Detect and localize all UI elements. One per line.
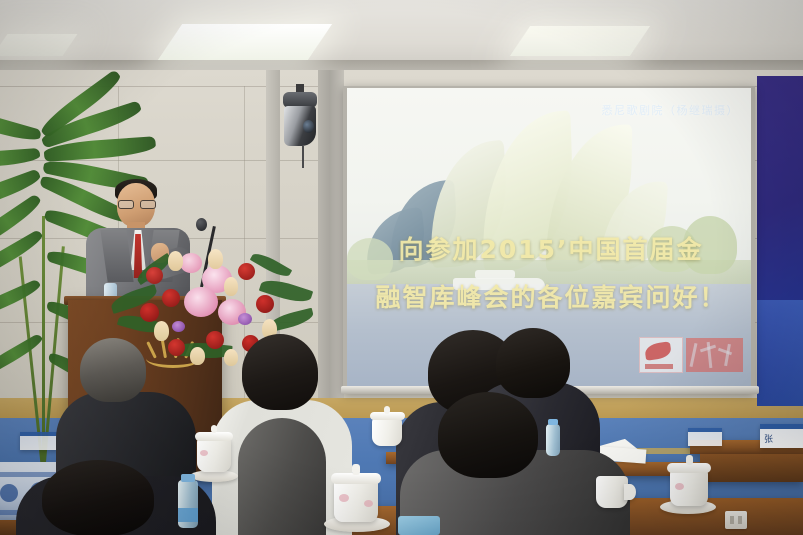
lily-bloom — [184, 287, 218, 317]
slide-title-line-1: 向参加2015’中国首届金 — [355, 230, 747, 266]
bottle-cap — [548, 419, 558, 425]
teacup-knob — [384, 406, 390, 414]
name-card — [20, 432, 58, 450]
teacup-lid — [195, 432, 233, 441]
teacup-knob — [352, 464, 360, 475]
rose-bloom — [162, 289, 180, 307]
rose-bloom — [206, 331, 224, 349]
audience-head — [496, 328, 570, 398]
backdrop-highlight — [757, 300, 803, 410]
rose-bloom — [238, 263, 255, 280]
rose-bloom — [146, 267, 163, 284]
slide-title-line-2: 融智库峰会的各位嘉宾问好！ — [355, 278, 747, 314]
ceiling-light-panel — [510, 26, 650, 56]
orchid-bloom — [172, 321, 185, 332]
bottle-cap — [181, 474, 195, 482]
audience-head — [242, 334, 318, 410]
audience-vest — [238, 418, 326, 535]
power-outlet[interactable] — [725, 511, 747, 529]
rose-bloom — [140, 303, 159, 322]
water-bottle — [546, 424, 560, 456]
smartphone[interactable] — [398, 516, 440, 535]
logo-subtext-bar — [645, 364, 673, 369]
teacup-decoration — [364, 500, 373, 507]
rose-bloom — [168, 339, 185, 356]
tulip-bud — [168, 251, 183, 271]
name-card — [688, 428, 722, 446]
lily-bloom — [180, 253, 202, 273]
microphone-icon — [196, 218, 207, 231]
teacup-knob — [211, 425, 217, 433]
name-card-text: 张 — [764, 432, 773, 445]
conference-photo: 悉尼歌剧院（杨继瑞摄） 向参加2015’中国首届金 融智库峰会的各位嘉宾问好！ — [0, 0, 803, 535]
orchid-bloom — [238, 313, 252, 325]
teacup — [372, 418, 402, 446]
teacup-decoration — [200, 450, 208, 456]
rose-bloom — [256, 295, 274, 313]
mug-handle — [624, 484, 636, 500]
tulip-bud — [224, 349, 238, 366]
audience-head — [42, 460, 154, 535]
teacup-decoration — [339, 494, 349, 502]
tulip-bud — [154, 321, 169, 341]
ceiling-light-panel — [158, 24, 332, 60]
bottle-label — [178, 508, 198, 522]
tulip-bud — [208, 249, 223, 269]
name-card: 张 — [760, 424, 803, 448]
tulip-bud — [224, 277, 238, 296]
audience-head — [438, 392, 538, 478]
phoenix-icon — [644, 341, 672, 360]
slide-logo — [639, 336, 743, 374]
desk-front-panel — [700, 454, 803, 482]
teacup-decoration — [675, 483, 684, 490]
wall-pillar — [318, 70, 344, 400]
audience-head — [80, 338, 146, 402]
speaker-glasses-icon — [118, 200, 134, 209]
calligraphy-signature — [686, 338, 743, 372]
teacup-knob — [686, 455, 693, 465]
logo-mark — [639, 337, 683, 373]
speaker-glasses-icon — [140, 200, 156, 209]
camera-lens-icon — [303, 120, 314, 133]
slide-caption: 悉尼歌剧院（杨继瑞摄） — [602, 102, 740, 118]
camera-cable — [302, 146, 304, 168]
tulip-bud — [190, 347, 205, 365]
